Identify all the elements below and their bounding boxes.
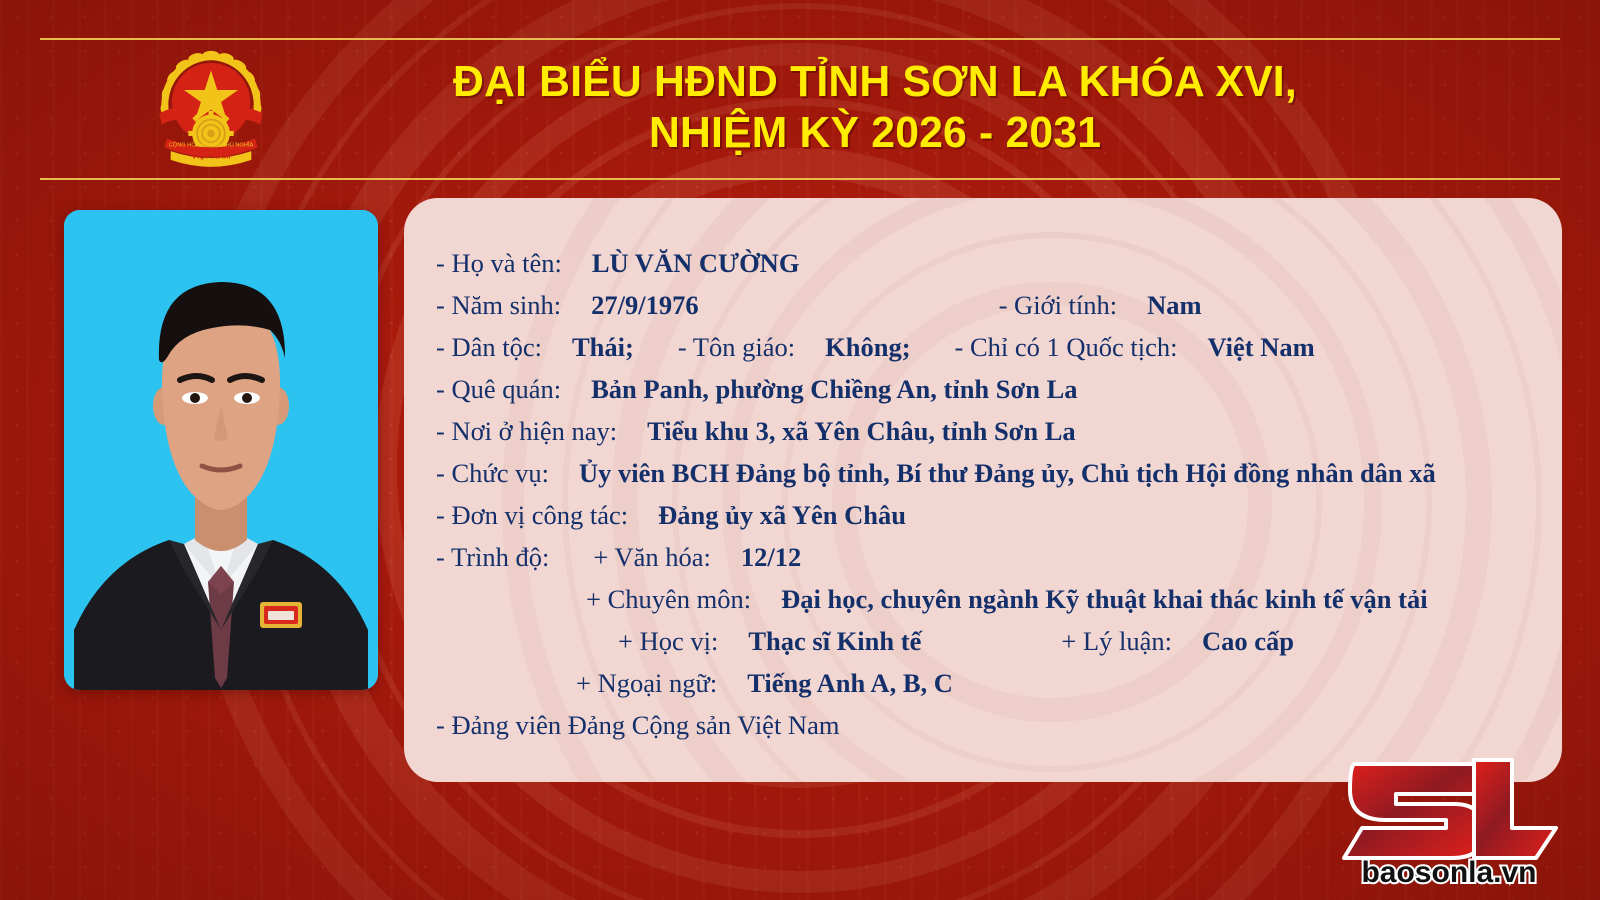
row-education-culture: - Trình độ: + Văn hóa: 12/12: [436, 536, 1532, 578]
education-degree-value: Thạc sĩ Kinh tế: [748, 628, 921, 655]
full-name-value: LÙ VĂN CƯỜNG: [592, 250, 800, 277]
residence-label: - Nơi ở hiện nay:: [436, 418, 617, 445]
poster-root: CỘNG HÒA XÃ HỘI CHỦ NGHĨA VIỆT NAM ĐẠI B…: [0, 0, 1600, 900]
full-name-label: - Họ và tên:: [436, 250, 562, 277]
row-education-major: + Chuyên môn: Đại học, chuyên ngành Kỹ t…: [436, 578, 1532, 620]
national-emblem-icon: CỘNG HÒA XÃ HỘI CHỦ NGHĨA VIỆT NAM: [148, 44, 274, 170]
row-education-degree-theory: + Học vị: Thạc sĩ Kinh tế + Lý luận: Cao…: [436, 620, 1532, 662]
nationality-label: - Chỉ có 1 Quốc tịch:: [955, 334, 1178, 361]
education-culture-value: 12/12: [741, 544, 801, 571]
education-major-value: Đại học, chuyên ngành Kỹ thuật khai thác…: [781, 586, 1427, 613]
ethnic-value: Thái;: [572, 334, 634, 361]
party-member-text: - Đảng viên Đảng Cộng sản Việt Nam: [436, 712, 839, 739]
education-label: - Trình độ:: [436, 544, 549, 571]
emblem-banner-text: VIỆT NAM: [191, 150, 230, 161]
delegate-details-list: - Họ và tên: LÙ VĂN CƯỜNG - Năm sinh: 27…: [436, 242, 1532, 746]
workplace-label: - Đơn vị công tác:: [436, 502, 628, 529]
baosonla-logo[interactable]: baosonla.vn: [1324, 736, 1574, 886]
delegate-portrait-photo: [64, 210, 378, 690]
delegate-info-card: - Họ và tên: LÙ VĂN CƯỜNG - Năm sinh: 27…: [404, 198, 1562, 782]
position-value: Ủy viên BCH Đảng bộ tỉnh, Bí thư Đảng ủy…: [579, 460, 1436, 487]
education-theory-value: Cao cấp: [1202, 628, 1294, 655]
logo-site-text: baosonla.vn: [1361, 856, 1536, 886]
title-line-1: ĐẠI BIỂU HĐND TỈNH SƠN LA KHÓA XVI,: [453, 57, 1297, 106]
education-degree-label: + Học vị:: [618, 628, 718, 655]
logo-s-letter: [1344, 764, 1484, 858]
poster-title: ĐẠI BIỂU HĐND TỈNH SƠN LA KHÓA XVI, NHIỆ…: [300, 44, 1450, 170]
workplace-value: Đảng ủy xã Yên Châu: [658, 502, 906, 529]
education-language-label: + Ngoại ngữ:: [576, 670, 717, 697]
education-culture-label: + Văn hóa:: [593, 544, 711, 571]
logo-l-letter: [1474, 760, 1556, 858]
education-language-value: Tiếng Anh A, B, C: [747, 670, 953, 697]
education-theory-label: + Lý luận:: [1061, 628, 1172, 655]
svg-text:CỘNG HÒA XÃ HỘI CHỦ NGHĨA: CỘNG HÒA XÃ HỘI CHỦ NGHĨA: [169, 142, 254, 149]
row-position: - Chức vụ: Ủy viên BCH Đảng bộ tỉnh, Bí …: [436, 452, 1532, 494]
row-workplace: - Đơn vị công tác: Đảng ủy xã Yên Châu: [436, 494, 1532, 536]
birth-label: - Năm sinh:: [436, 292, 561, 319]
religion-value: Không;: [825, 334, 910, 361]
header-rule-bottom: [40, 178, 1560, 180]
row-hometown: - Quê quán: Bản Panh, phường Chiềng An, …: [436, 368, 1532, 410]
position-label: - Chức vụ:: [436, 460, 549, 487]
header-rule-top: [40, 38, 1560, 40]
birth-value: 27/9/1976: [591, 292, 698, 319]
row-education-language: + Ngoại ngữ: Tiếng Anh A, B, C: [436, 662, 1532, 704]
education-major-label: + Chuyên môn:: [586, 586, 751, 613]
title-line-2: NHIỆM KỲ 2026 - 2031: [649, 108, 1101, 157]
residence-value: Tiểu khu 3, xã Yên Châu, tỉnh Sơn La: [647, 418, 1076, 445]
hometown-label: - Quê quán:: [436, 376, 561, 403]
row-birth-and-sex: - Năm sinh: 27/9/1976 - Giới tính: Nam: [436, 284, 1532, 326]
hometown-value: Bản Panh, phường Chiềng An, tỉnh Sơn La: [591, 376, 1077, 403]
row-full-name: - Họ và tên: LÙ VĂN CƯỜNG: [436, 242, 1532, 284]
poster-header: CỘNG HÒA XÃ HỘI CHỦ NGHĨA VIỆT NAM ĐẠI B…: [0, 0, 1600, 190]
row-residence: - Nơi ở hiện nay: Tiểu khu 3, xã Yên Châ…: [436, 410, 1532, 452]
nationality-value: Việt Nam: [1208, 334, 1315, 361]
ethnic-label: - Dân tộc:: [436, 334, 542, 361]
row-ethnic-religion-nationality: - Dân tộc: Thái; - Tôn giáo: Không; - Ch…: [436, 326, 1532, 368]
sex-label: - Giới tính:: [999, 292, 1118, 319]
sex-value: Nam: [1147, 292, 1201, 319]
religion-label: - Tôn giáo:: [678, 334, 795, 361]
